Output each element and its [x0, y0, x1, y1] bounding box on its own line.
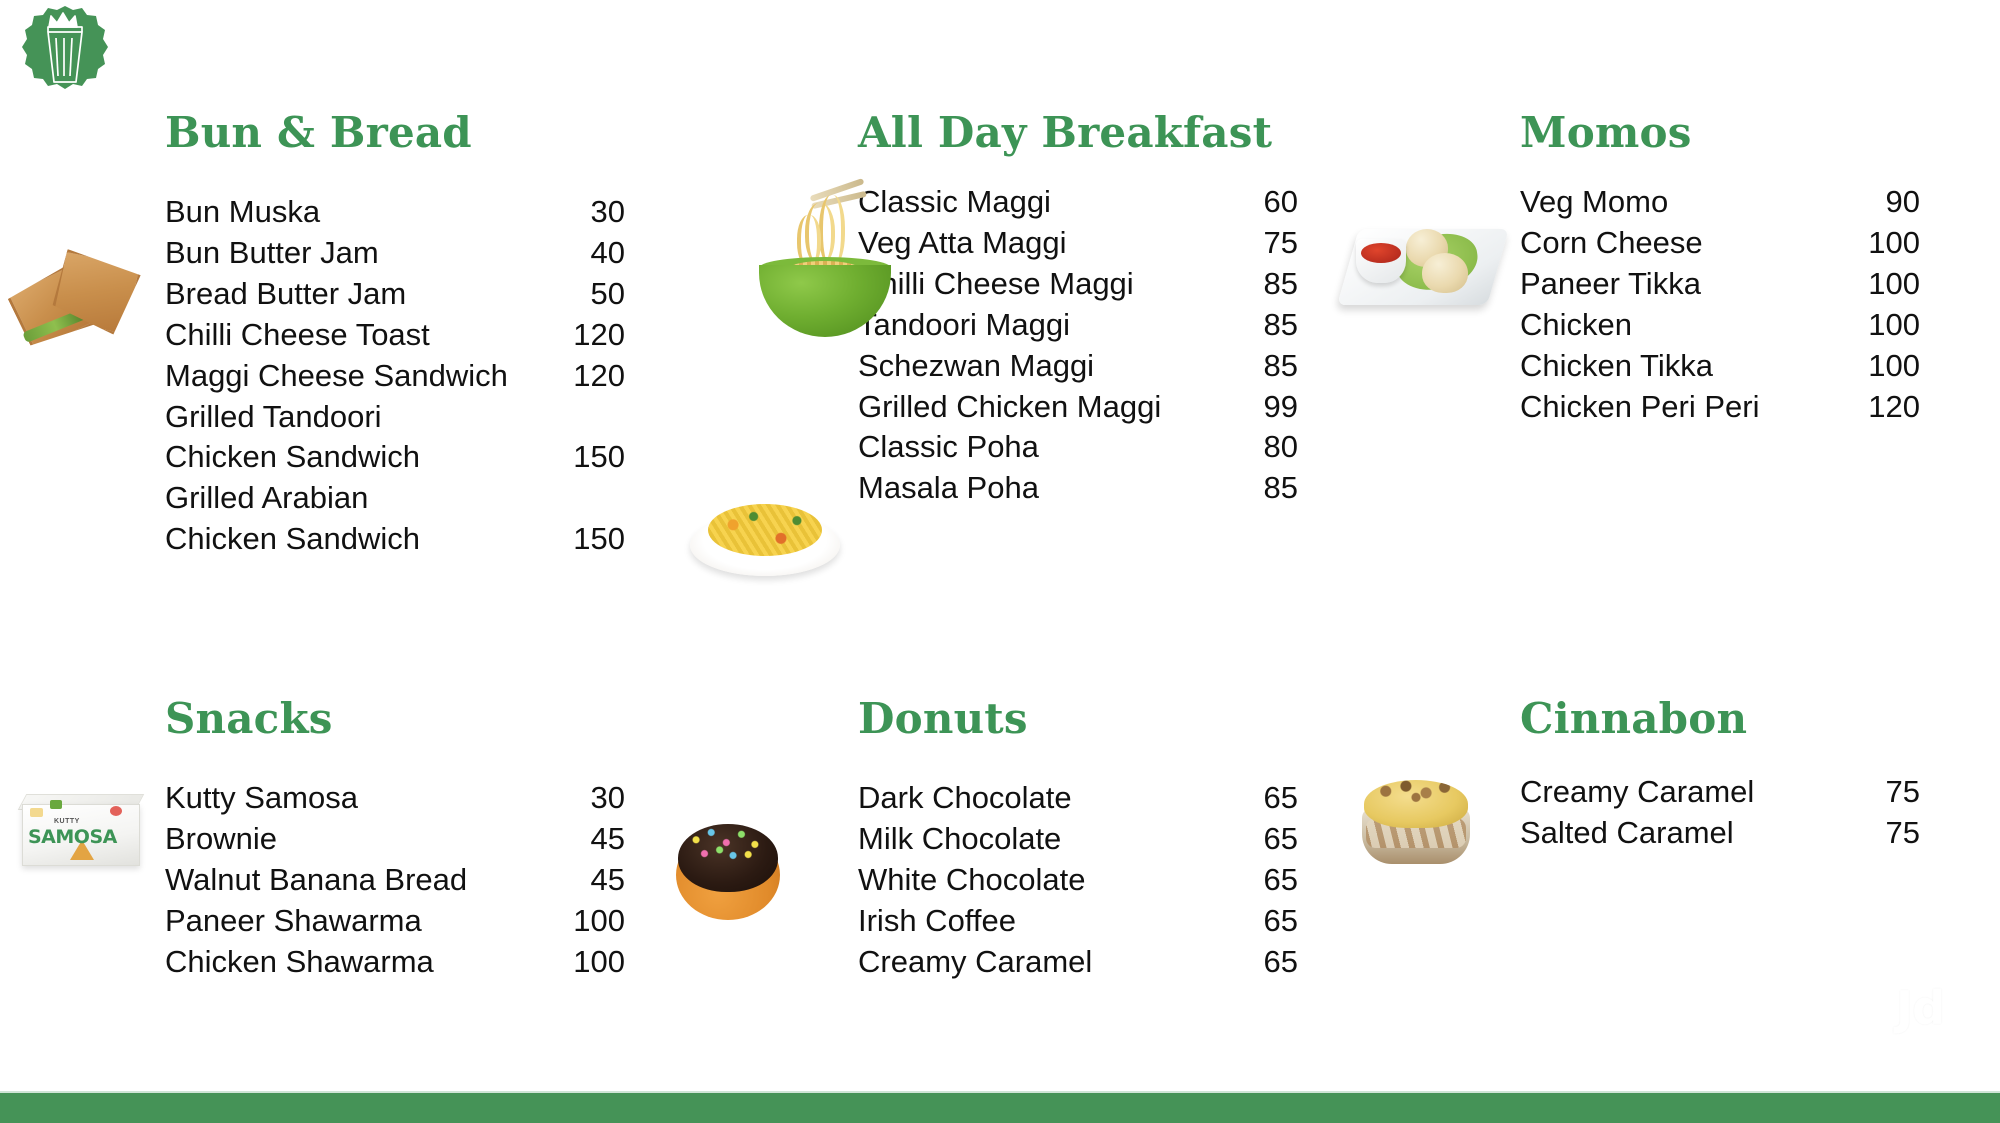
- menu-item-row: Dark Chocolate 65: [858, 778, 1298, 819]
- menu-item-row: Chilli Cheese Maggi 85: [858, 264, 1298, 305]
- item-list-donuts: Dark Chocolate 65 Milk Chocolate 65 Whit…: [858, 778, 1298, 983]
- item-name: Irish Coffee: [858, 901, 1016, 942]
- cinnamon-swirl: [1366, 818, 1466, 848]
- item-price: 150: [573, 519, 625, 560]
- item-price: 50: [591, 274, 625, 315]
- menu-item-row: Chilli Cheese Toast 120: [165, 315, 625, 356]
- item-name: Milk Chocolate: [858, 819, 1061, 860]
- menu-item-row: Chicken Sandwich 150: [165, 437, 625, 478]
- sprinkles: [686, 826, 770, 872]
- menu-item-row: Irish Coffee 65: [858, 901, 1298, 942]
- item-price: 75: [1886, 772, 1920, 813]
- item-name: Grilled Chicken Maggi: [858, 387, 1161, 428]
- menu-item-row: Chicken Shawarma 100: [165, 942, 625, 983]
- footer-bar: [0, 1093, 2000, 1123]
- plate: [690, 514, 840, 576]
- menu-board: Bun & Bread Bun Muska 30 Bun Butter Jam …: [0, 0, 2000, 1093]
- poha-plate-image: [690, 492, 840, 584]
- samosa-box-swatch-yellow: [30, 808, 43, 817]
- menu-item-row: Paneer Shawarma 100: [165, 901, 625, 942]
- item-price: 99: [1264, 387, 1298, 428]
- sandwich-slice-back: [5, 260, 104, 354]
- section-title-all-day-breakfast: All Day Breakfast: [858, 112, 1272, 154]
- menu-item-row: Maggi Cheese Sandwich 120: [165, 356, 625, 397]
- menu-item-row: Salted Caramel 75: [1520, 813, 1920, 854]
- noodle-strand: [819, 195, 845, 267]
- item-price: 85: [1264, 264, 1298, 305]
- menu-item-row: Veg Momo 90: [1520, 182, 1920, 223]
- item-name: Maggi Cheese Sandwich: [165, 356, 508, 397]
- item-price: 60: [1264, 182, 1298, 223]
- menu-item-row: Corn Cheese 100: [1520, 223, 1920, 264]
- samosa-box-swatch-green: [50, 800, 62, 809]
- item-price: 45: [591, 860, 625, 901]
- menu-item-row: Creamy Caramel 75: [1520, 772, 1920, 813]
- item-name: Chilli Cheese Maggi: [858, 264, 1134, 305]
- menu-item-row: Classic Maggi 60: [858, 182, 1298, 223]
- item-list-cinnabon: Creamy Caramel 75 Salted Caramel 75: [1520, 772, 1920, 854]
- momos-plate-image: [1340, 205, 1508, 313]
- noodle-strand: [805, 203, 835, 265]
- section-title-cinnabon: Cinnabon: [1520, 698, 1747, 740]
- item-name: Chicken Sandwich: [165, 437, 420, 478]
- lettuce-leaf: [1393, 230, 1482, 295]
- menu-item-row: Classic Poha 80: [858, 427, 1298, 468]
- item-list-momos: Veg Momo 90 Corn Cheese 100 Paneer Tikka…: [1520, 182, 1920, 427]
- noodles-in-bowl: [787, 261, 861, 279]
- section-title-momos: Momos: [1520, 112, 1692, 154]
- sandwich-slice-front: [49, 248, 143, 337]
- chocolate-glaze: [678, 824, 778, 892]
- item-price: 65: [1264, 942, 1298, 983]
- item-price: 45: [591, 819, 625, 860]
- menu-item-row: Veg Atta Maggi 75: [858, 223, 1298, 264]
- menu-item-row: Kutty Samosa 30: [165, 778, 625, 819]
- menu-item-row: Bun Muska 30: [165, 192, 625, 233]
- caramel-frosting: [1364, 780, 1468, 828]
- item-name: Bun Butter Jam: [165, 233, 379, 274]
- menu-item-row: Walnut Banana Bread 45: [165, 860, 625, 901]
- cinnabon-image: [1352, 772, 1482, 872]
- item-name: Chicken Tikka: [1520, 346, 1713, 387]
- item-name: Veg Momo: [1520, 182, 1668, 223]
- item-price: 100: [1868, 346, 1920, 387]
- item-name: Masala Poha: [858, 468, 1039, 509]
- menu-item-row: Paneer Tikka 100: [1520, 264, 1920, 305]
- item-price: 90: [1886, 182, 1920, 223]
- item-name: Grilled Arabian: [165, 478, 368, 519]
- item-name: Corn Cheese: [1520, 223, 1703, 264]
- item-price: 30: [591, 192, 625, 233]
- menu-item-row: Chicken Peri Peri 120: [1520, 387, 1920, 428]
- item-name: Chicken Shawarma: [165, 942, 434, 983]
- section-title-snacks: Snacks: [165, 698, 333, 740]
- samosa-box-body: [22, 804, 140, 866]
- item-name: Chicken Peri Peri: [1520, 387, 1759, 428]
- menu-item-row: Bread Butter Jam 50: [165, 274, 625, 315]
- item-price: 40: [591, 233, 625, 274]
- item-name: Chilli Cheese Toast: [165, 315, 430, 356]
- item-price: 100: [1868, 305, 1920, 346]
- item-name: Dark Chocolate: [858, 778, 1072, 819]
- item-price: 65: [1264, 778, 1298, 819]
- poha-serving: [708, 504, 822, 556]
- samosa-box-lid: [18, 794, 145, 810]
- item-price: 65: [1264, 901, 1298, 942]
- item-price: 100: [1868, 223, 1920, 264]
- item-name: White Chocolate: [858, 860, 1085, 901]
- menu-item-row: Grilled Tandoori: [165, 397, 625, 438]
- momo-dumpling: [1422, 253, 1468, 293]
- item-name: Brownie: [165, 819, 277, 860]
- samosa-box-label: SAMOSA: [28, 826, 117, 848]
- cinnamon-roll-base: [1362, 808, 1470, 864]
- nut-topping: [1374, 780, 1458, 808]
- item-price: 75: [1264, 223, 1298, 264]
- section-title-bun-and-bread: Bun & Bread: [165, 112, 472, 154]
- item-name: Bun Muska: [165, 192, 320, 233]
- item-price: 85: [1264, 305, 1298, 346]
- item-price: 150: [573, 437, 625, 478]
- item-list-bun-and-bread: Bun Muska 30 Bun Butter Jam 40 Bread But…: [165, 192, 625, 560]
- item-price: 85: [1264, 468, 1298, 509]
- item-name: Kutty Samosa: [165, 778, 358, 819]
- item-name: Salted Caramel: [1520, 813, 1734, 854]
- item-name: Grilled Tandoori: [165, 397, 382, 438]
- item-price: 65: [1264, 819, 1298, 860]
- donut-image: [668, 818, 788, 928]
- donut-dough: [676, 830, 780, 920]
- item-name: Chicken: [1520, 305, 1632, 346]
- item-name: Paneer Shawarma: [165, 901, 422, 942]
- menu-item-row: White Chocolate 65: [858, 860, 1298, 901]
- item-name: Paneer Tikka: [1520, 264, 1701, 305]
- red-chutney: [1361, 243, 1401, 263]
- item-price: 100: [573, 901, 625, 942]
- item-price: 85: [1264, 346, 1298, 387]
- samosa-illustration: [70, 840, 94, 860]
- samosa-box-swatch-red: [110, 806, 122, 816]
- item-price: 80: [1264, 427, 1298, 468]
- menu-item-row: Bun Butter Jam 40: [165, 233, 625, 274]
- item-price: 120: [1868, 387, 1920, 428]
- chopstick: [810, 178, 865, 202]
- item-name: Veg Atta Maggi: [858, 223, 1067, 264]
- item-price: 120: [573, 315, 625, 356]
- samosa-box-label-small: KUTTY: [54, 818, 80, 825]
- menu-item-row: Tandoori Maggi 85: [858, 305, 1298, 346]
- item-price: 100: [1868, 264, 1920, 305]
- item-name: Classic Maggi: [858, 182, 1051, 223]
- menu-item-row: Grilled Arabian: [165, 478, 625, 519]
- menu-item-row: Milk Chocolate 65: [858, 819, 1298, 860]
- momo-dumpling: [1406, 229, 1448, 267]
- item-price: 75: [1886, 813, 1920, 854]
- menu-item-row: Schezwan Maggi 85: [858, 346, 1298, 387]
- menu-item-row: Chicken 100: [1520, 305, 1920, 346]
- item-price: 30: [591, 778, 625, 819]
- item-list-snacks: Kutty Samosa 30 Brownie 45 Walnut Banana…: [165, 778, 625, 983]
- menu-item-row: Creamy Caramel 65: [858, 942, 1298, 983]
- chutney-bowl: [1356, 239, 1406, 283]
- item-name: Chicken Sandwich: [165, 519, 420, 560]
- menu-item-row: Chicken Sandwich 150: [165, 519, 625, 560]
- item-price: 100: [573, 942, 625, 983]
- menu-item-row: Grilled Chicken Maggi 99: [858, 387, 1298, 428]
- menu-item-row: Brownie 45: [165, 819, 625, 860]
- item-name: Classic Poha: [858, 427, 1039, 468]
- item-name: Schezwan Maggi: [858, 346, 1094, 387]
- justdial-watermark: Jd: [1896, 981, 1944, 1035]
- noodle-strand: [797, 215, 821, 267]
- menu-item-row: Masala Poha 85: [858, 468, 1298, 509]
- serving-tray: [1337, 229, 1509, 305]
- item-name: Walnut Banana Bread: [165, 860, 467, 901]
- item-list-all-day-breakfast: Classic Maggi 60 Veg Atta Maggi 75 Chill…: [858, 182, 1298, 509]
- item-name: Bread Butter Jam: [165, 274, 406, 315]
- menu-item-row: Chicken Tikka 100: [1520, 346, 1920, 387]
- samosa-box-image: KUTTY SAMOSA: [18, 786, 146, 878]
- item-price: 65: [1264, 860, 1298, 901]
- section-title-donuts: Donuts: [858, 698, 1028, 740]
- sandwich-image: [10, 246, 140, 351]
- item-name: Tandoori Maggi: [858, 305, 1070, 346]
- item-price: 120: [573, 356, 625, 397]
- item-name: Creamy Caramel: [858, 942, 1092, 983]
- item-name: Creamy Caramel: [1520, 772, 1754, 813]
- sandwich-filling: [22, 308, 87, 343]
